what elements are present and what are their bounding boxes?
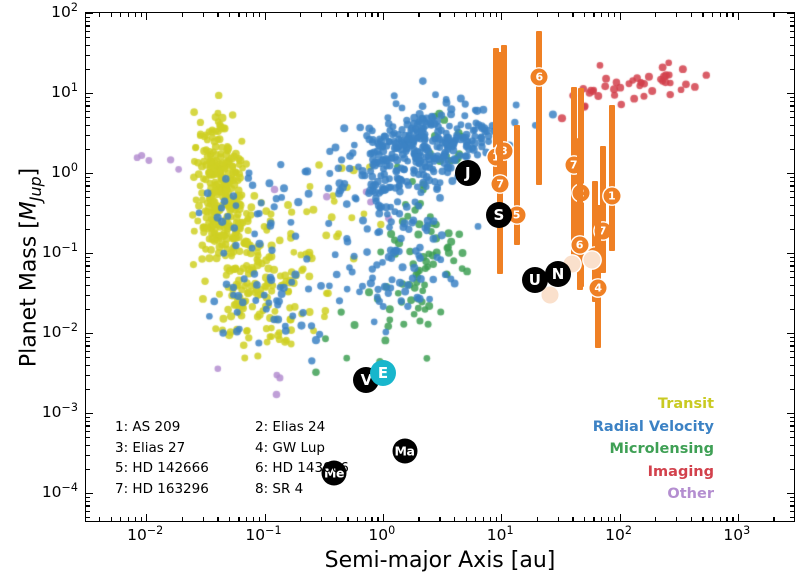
solar-system-marker-uranus: U bbox=[522, 267, 548, 293]
x-axis-tick bbox=[794, 517, 795, 521]
y-tick-label: 10−3 bbox=[42, 403, 78, 421]
legend-item-radial-velocity: Radial Velocity bbox=[593, 416, 714, 439]
key-entry-right: 2: Elias 24 bbox=[255, 417, 325, 438]
y-tick-label: 100 bbox=[51, 163, 78, 181]
disk-gap-errorbar bbox=[609, 105, 615, 251]
y-axis-title-subscript: Jup bbox=[26, 176, 45, 201]
key-row: 7: HD 1632968: SR 4 bbox=[115, 479, 349, 500]
disk-gap-marker: 7 bbox=[492, 176, 509, 193]
disk-gap-marker-faded bbox=[583, 251, 600, 268]
exoplanet-mass-vs-semimajor-axis-figure: 187567263741 MeVEMaJSUN 10−210−110010110… bbox=[0, 0, 806, 582]
solar-system-marker-saturn: S bbox=[486, 202, 512, 228]
solar-system-marker-earth: E bbox=[370, 360, 396, 386]
x-tick-label: 100 bbox=[368, 526, 395, 544]
legend-item-imaging: Imaging bbox=[593, 461, 714, 484]
y-axis-title-suffix: ] bbox=[17, 168, 42, 177]
solar-system-marker-neptune: N bbox=[545, 261, 571, 287]
key-row: 5: HD 1426666: HD 143006 bbox=[115, 458, 349, 479]
disk-gap-errorbar bbox=[536, 31, 542, 186]
x-tick-label: 102 bbox=[605, 526, 632, 544]
disk-gap-errorbar bbox=[497, 52, 503, 274]
legend: TransitRadial VelocityMicrolensingImagin… bbox=[593, 393, 714, 506]
solar-system-marker-jupiter: J bbox=[455, 160, 481, 186]
disk-gap-errorbar bbox=[595, 205, 601, 348]
key-row: 3: Elias 274: GW Lup bbox=[115, 438, 349, 459]
y-tick-label: 10−2 bbox=[42, 323, 78, 341]
y-axis-title: Planet Mass [MJup] bbox=[17, 53, 42, 483]
y-tick-label: 102 bbox=[51, 3, 78, 21]
x-tick-label: 103 bbox=[723, 526, 750, 544]
key-entry-left: 7: HD 163296 bbox=[115, 479, 255, 500]
y-tick-label: 101 bbox=[51, 83, 78, 101]
key-entry-left: 1: AS 209 bbox=[115, 417, 255, 438]
y-axis-title-prefix: Planet Mass [ bbox=[17, 220, 42, 367]
legend-item-other: Other bbox=[593, 483, 714, 506]
key-entry-right: 8: SR 4 bbox=[255, 479, 303, 500]
x-axis-title: Semi-major Axis [au] bbox=[85, 548, 795, 573]
disk-gap-marker: 1 bbox=[603, 187, 620, 204]
legend-item-microlensing: Microlensing bbox=[593, 438, 714, 461]
x-tick-label: 101 bbox=[487, 526, 514, 544]
disk-gap-key: 1: AS 2092: Elias 243: Elias 274: GW Lup… bbox=[115, 417, 349, 499]
x-axis-tick bbox=[794, 13, 795, 17]
legend-item-transit: Transit bbox=[593, 393, 714, 416]
key-entry-left: 5: HD 142666 bbox=[115, 458, 255, 479]
key-entry-right: 6: HD 143006 bbox=[255, 458, 349, 479]
key-row: 1: AS 2092: Elias 24 bbox=[115, 417, 349, 438]
disk-gap-errorbar bbox=[514, 125, 520, 245]
disk-gap-marker: 6 bbox=[531, 68, 548, 85]
disk-gap-marker: 4 bbox=[590, 280, 607, 297]
y-tick-label: 10−1 bbox=[42, 243, 78, 261]
y-axis-title-symbol: M bbox=[17, 201, 42, 220]
key-entry-left: 3: Elias 27 bbox=[115, 438, 255, 459]
y-tick-label: 10−4 bbox=[42, 483, 78, 501]
solar-system-marker-mars: Ma bbox=[392, 438, 417, 463]
key-entry-right: 4: GW Lup bbox=[255, 438, 325, 459]
disk-gap-marker: 6 bbox=[571, 237, 588, 254]
x-tick-label: 10−2 bbox=[127, 526, 163, 544]
x-tick-label: 10−1 bbox=[245, 526, 281, 544]
